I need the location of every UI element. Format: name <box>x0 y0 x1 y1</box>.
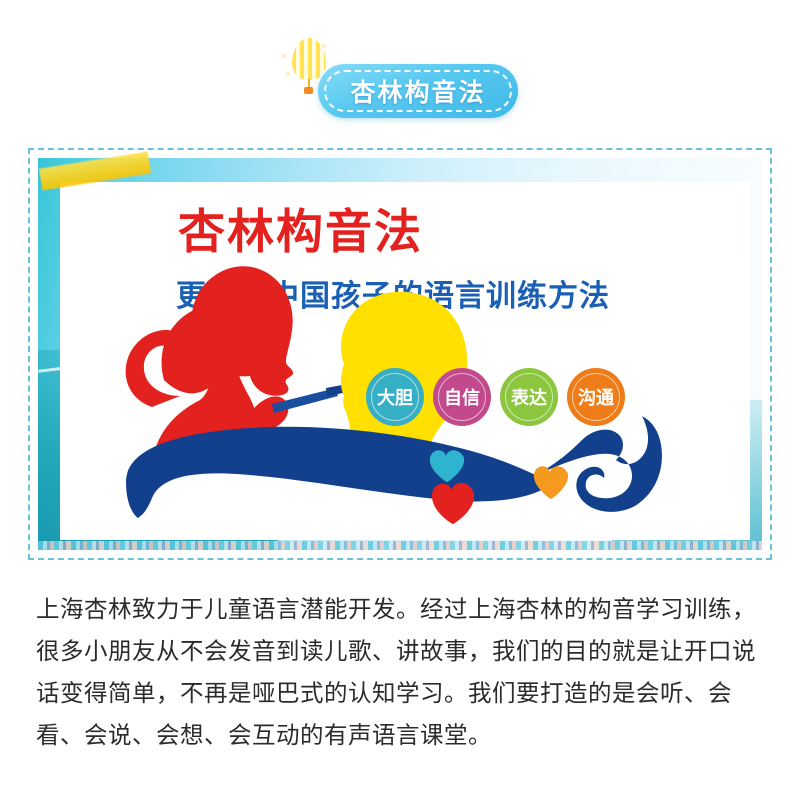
sparkle-icon <box>286 72 290 76</box>
badge-confidence[interactable]: 自信 <box>433 368 491 426</box>
promo-page: 杏林构音法 杏林构音法 更适合中国孩子的语言训练方法 <box>0 0 800 800</box>
badge-expression[interactable]: 表达 <box>500 368 558 426</box>
badge-daring[interactable]: 大胆 <box>366 368 424 426</box>
sparkle-icon <box>322 44 326 48</box>
badge-label: 表达 <box>511 384 547 410</box>
page-title: 杏林构音法 <box>178 208 423 255</box>
badge-label: 自信 <box>444 384 480 410</box>
body-paragraph: 上海杏林致力于儿童语言潜能开发。经过上海杏林的构音学习训练，很多小朋友从不会发音… <box>36 588 772 756</box>
body-paragraph-container: 上海杏林致力于儿童语言潜能开发。经过上海杏林的构音学习训练，很多小朋友从不会发音… <box>36 588 772 756</box>
banner-title: 杏林构音法 <box>318 64 518 118</box>
banner-pill: 杏林构音法 <box>318 64 518 118</box>
sparkle-icon <box>282 54 286 58</box>
photo-bottom-strip <box>38 541 762 550</box>
badge-communication[interactable]: 沟通 <box>567 368 625 426</box>
balloon-basket <box>304 87 313 94</box>
badge-label: 沟通 <box>578 384 614 410</box>
page-subtitle: 更适合中国孩子的语言训练方法 <box>176 282 610 312</box>
badge-row: 大胆 自信 表达 沟通 <box>366 368 625 426</box>
top-banner: 杏林构音法 <box>0 0 800 135</box>
badge-label: 大胆 <box>377 384 413 410</box>
